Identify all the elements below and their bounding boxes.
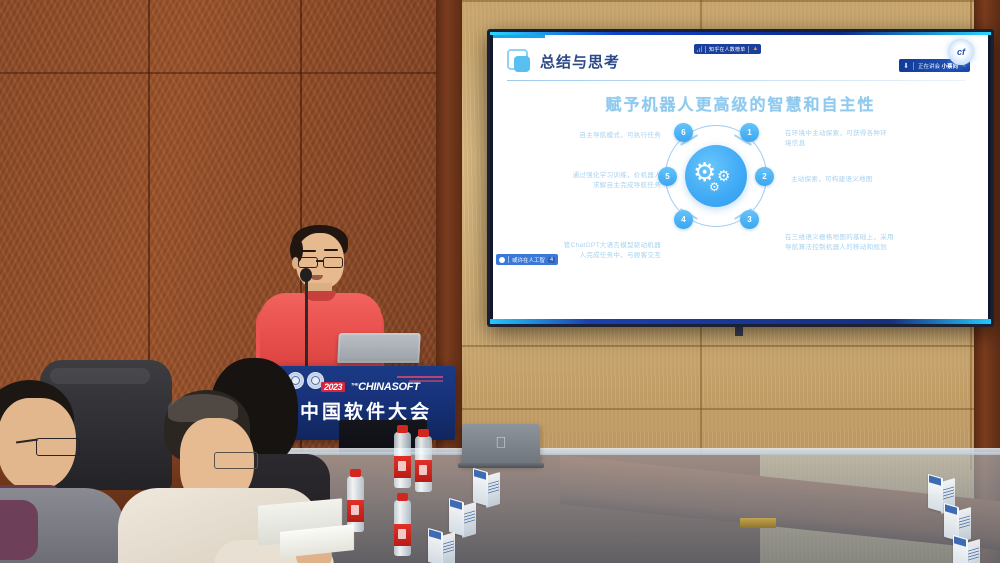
name-card-holder bbox=[449, 500, 477, 534]
slide-headline: 赋予机器人更高级的智慧和自主性 bbox=[493, 91, 988, 115]
macbook-laptop:  bbox=[462, 424, 540, 464]
circle-dot-icon bbox=[499, 257, 505, 263]
wall-display: 总结与思考 知乎在人数榜单 ▲ ⬇ bbox=[487, 29, 994, 327]
callout-top-right: 在环境中主动探索，可获得各种环 境信息 bbox=[785, 129, 945, 149]
signal-bars-icon bbox=[697, 46, 702, 52]
stream-rank-badge[interactable]: 知乎在人数榜单 ▲ bbox=[694, 44, 761, 54]
apple-logo-icon:  bbox=[495, 435, 506, 452]
diagram-node-6[interactable]: 6 bbox=[674, 123, 693, 142]
callout-top-left: 自主导航模式，可执行任务 bbox=[511, 131, 661, 141]
flame-icon: ▲ bbox=[752, 46, 758, 52]
slide-section-header: 总结与思考 bbox=[507, 49, 620, 73]
watermark-count: 4 bbox=[548, 257, 555, 263]
name-card-holder bbox=[473, 470, 501, 504]
water-bottle bbox=[415, 436, 432, 492]
speaker-brow bbox=[324, 249, 338, 251]
conference-table-glass-top bbox=[260, 452, 1000, 563]
live-session-label: 正在讲会 小蔡向 bbox=[918, 62, 958, 70]
podium-year: 2023 bbox=[321, 382, 345, 392]
slide-header-divider bbox=[507, 80, 965, 81]
wall-seam bbox=[462, 345, 1000, 347]
screenshot-frame: 总结与思考 知乎在人数榜单 ▲ ⬇ bbox=[0, 0, 1000, 563]
stream-watermark-badge[interactable]: 或许在人工智 4 bbox=[496, 254, 558, 265]
table-glass-edge bbox=[255, 448, 1000, 455]
diagram-node-3[interactable]: 3 bbox=[740, 210, 759, 229]
slide-accent-bar bbox=[493, 35, 545, 38]
display-bezel-glow-bottom bbox=[490, 319, 991, 324]
microphone-stem bbox=[305, 276, 308, 366]
organization-logo-text: cf bbox=[957, 47, 965, 57]
name-card-holder bbox=[953, 537, 981, 563]
diagram-node-4[interactable]: 4 bbox=[674, 210, 693, 229]
name-card-holder bbox=[428, 530, 456, 563]
water-bottle bbox=[394, 432, 411, 488]
organization-logo: cf bbox=[948, 39, 974, 65]
speaker-collar bbox=[304, 291, 336, 301]
wall-seam bbox=[462, 0, 1000, 2]
gear-small-icon: ⚙ bbox=[709, 181, 720, 193]
diagram-center-gears: ⚙ ⚙ ⚙ bbox=[685, 145, 747, 207]
diagram-node-1[interactable]: 1 bbox=[740, 123, 759, 142]
diagram-node-5[interactable]: 5 bbox=[658, 167, 677, 186]
diagram-node-2[interactable]: 2 bbox=[755, 167, 774, 186]
desk-nameplate bbox=[740, 518, 776, 528]
audience-person-left bbox=[0, 380, 130, 563]
water-bottle bbox=[394, 500, 411, 556]
callout-mid-left: 通过强化学习训练，价机器人 求解自主完成导航任务 bbox=[503, 171, 661, 191]
wall-seam bbox=[462, 408, 1000, 410]
download-icon: ⬇ bbox=[903, 62, 909, 70]
name-card-holder bbox=[944, 505, 972, 539]
speaker-brow bbox=[302, 250, 316, 252]
podium-brand: THECHINASOFT bbox=[351, 381, 420, 393]
slide-section-title: 总结与思考 bbox=[540, 51, 620, 72]
rounded-square-stack-icon bbox=[507, 49, 531, 73]
stream-rank-label: 知乎在人数榜单 bbox=[709, 46, 745, 53]
presentation-slide: 总结与思考 知乎在人数榜单 ▲ ⬇ bbox=[493, 35, 988, 319]
speaker-glasses bbox=[298, 253, 343, 265]
display-screen: 总结与思考 知乎在人数榜单 ▲ ⬇ bbox=[493, 35, 988, 319]
callout-mid-right: 主动探索，可构建语义地图 bbox=[791, 175, 949, 185]
callout-bottom-right: 在三维语义栅格地图的基础上，采用 导航算法控制机器人的移动和规划 bbox=[785, 233, 953, 253]
circular-process-diagram: ⚙ ⚙ ⚙ 1 2 3 4 5 6 bbox=[657, 117, 775, 235]
speaker-laptop bbox=[337, 333, 421, 363]
podium-accent-stroke bbox=[397, 376, 443, 378]
microphone-head bbox=[300, 268, 312, 282]
watermark-label: 或许在人工智 bbox=[512, 256, 545, 264]
